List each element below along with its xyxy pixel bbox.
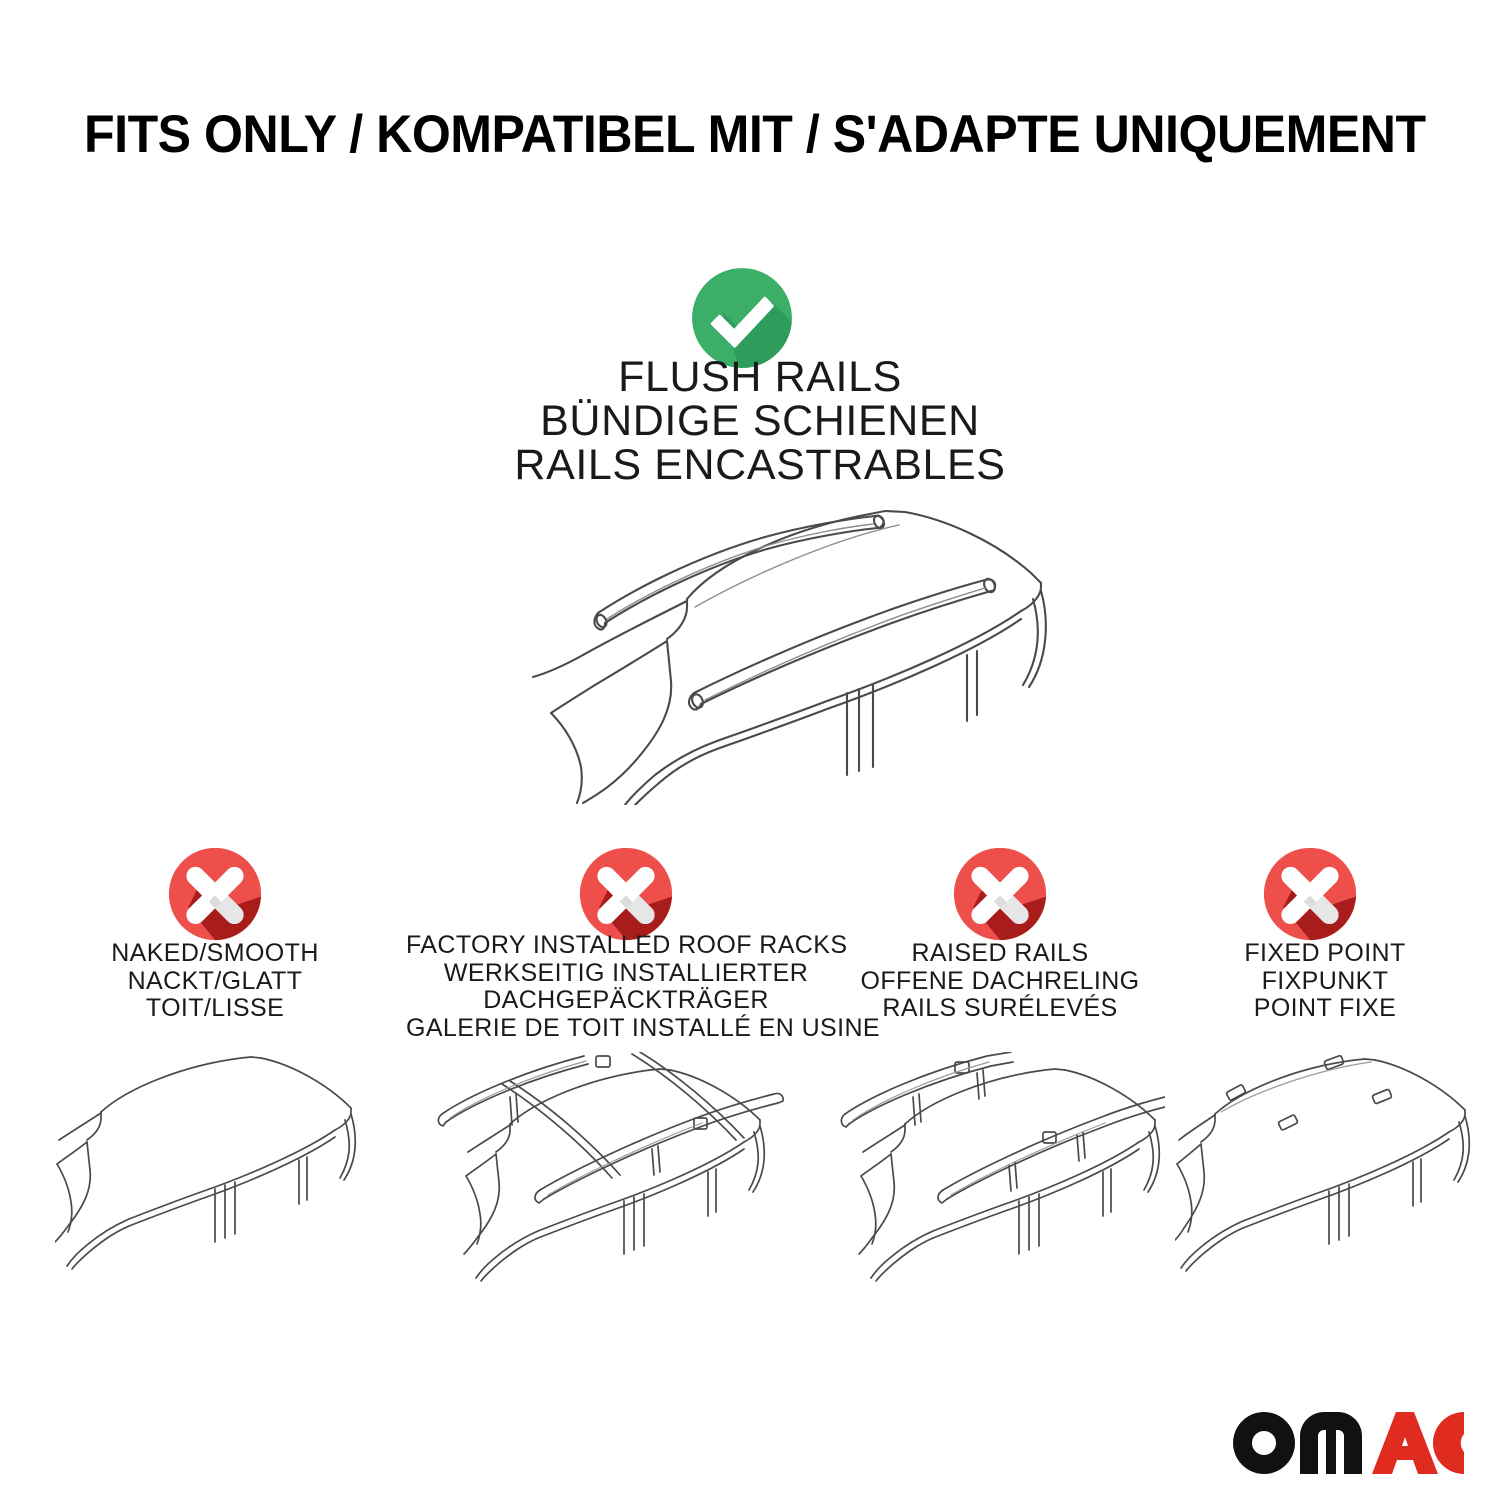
car-roof-raised-rails-illustration: [835, 1052, 1165, 1282]
compatible-label: FLUSH RAILS BÜNDIGE SCHIENEN RAILS ENCAS…: [250, 355, 1270, 487]
label-line-de-1: WERKSEITIG INSTALLIERTER: [406, 960, 846, 988]
compatible-section: FLUSH RAILS BÜNDIGE SCHIENEN RAILS ENCAS…: [0, 0, 1500, 820]
label-line-de-2: DACHGEPÄCKTRÄGER: [406, 987, 846, 1015]
label-line-de: FIXPUNKT: [1175, 968, 1475, 996]
label-line-de: NACKT/GLATT: [55, 968, 375, 996]
incompatible-item-naked-smooth: NAKED/SMOOTH NACKT/GLATT TOIT/LISSE: [55, 840, 375, 1310]
compatible-label-line-en: FLUSH RAILS: [250, 355, 1270, 399]
incompatible-label-fixed-point: FIXED POINT FIXPUNKT POINT FIXE: [1175, 940, 1475, 1023]
incompatible-label-factory-rack: FACTORY INSTALLED ROOF RACKS WERKSEITIG …: [406, 932, 846, 1042]
cross-circle-icon: [167, 846, 263, 942]
label-line-fr: TOIT/LISSE: [55, 995, 375, 1023]
cross-circle-icon: [578, 846, 674, 942]
label-line-fr: POINT FIXE: [1175, 995, 1475, 1023]
car-roof-fixed-point-illustration: [1175, 1052, 1475, 1282]
incompatible-label-naked-smooth: NAKED/SMOOTH NACKT/GLATT TOIT/LISSE: [55, 940, 375, 1023]
label-line-de: OFFENE DACHRELING: [835, 968, 1165, 996]
omac-logo: [1232, 1412, 1464, 1474]
label-line-en: NAKED/SMOOTH: [55, 940, 375, 968]
label-line-fr: GALERIE DE TOIT INSTALLÉ EN USINE: [406, 1015, 846, 1043]
car-roof-naked-smooth-illustration: [55, 1052, 375, 1282]
label-line-en: FACTORY INSTALLED ROOF RACKS: [406, 932, 846, 960]
car-roof-factory-rack-illustration: [406, 1052, 846, 1282]
compatible-label-line-de: BÜNDIGE SCHIENEN: [250, 399, 1270, 443]
label-line-en: RAISED RAILS: [835, 940, 1165, 968]
cross-circle-icon: [952, 846, 1048, 942]
incompatible-label-raised-rails: RAISED RAILS OFFENE DACHRELING RAILS SUR…: [835, 940, 1165, 1023]
incompatible-item-raised-rails: RAISED RAILS OFFENE DACHRELING RAILS SUR…: [835, 840, 1165, 1310]
label-line-fr: RAILS SURÉLEVÉS: [835, 995, 1165, 1023]
incompatible-item-factory-rack: FACTORY INSTALLED ROOF RACKS WERKSEITIG …: [406, 840, 846, 1310]
car-roof-flush-rails-illustration: [455, 495, 1075, 805]
compatible-label-line-fr: RAILS ENCASTRABLES: [250, 443, 1270, 487]
label-line-en: FIXED POINT: [1175, 940, 1475, 968]
cross-circle-icon: [1262, 846, 1358, 942]
incompatible-item-fixed-point: FIXED POINT FIXPUNKT POINT FIXE: [1175, 840, 1475, 1310]
incompatible-section: NAKED/SMOOTH NACKT/GLATT TOIT/LISSE: [0, 840, 1500, 1310]
